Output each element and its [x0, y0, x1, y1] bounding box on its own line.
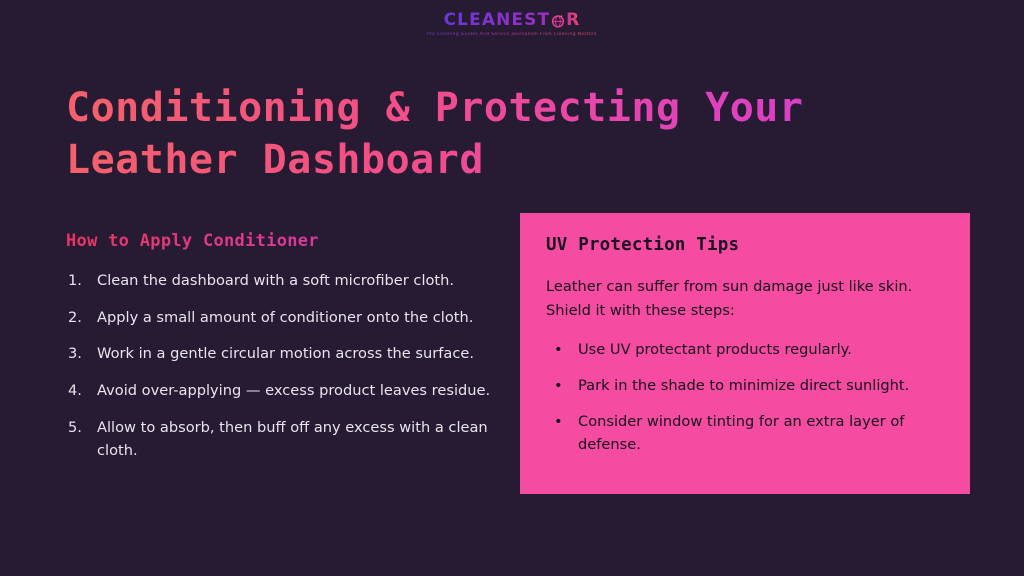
uv-bullets-list: Use UV protectant products regularly. Pa…	[546, 338, 944, 457]
list-item: Use UV protectant products regularly.	[546, 338, 944, 362]
list-item: Apply a small amount of conditioner onto…	[66, 306, 494, 330]
page-title: Conditioning & Protecting Your Leather D…	[66, 82, 946, 186]
slide-root: CLEANEST R Pro Cleaning Guides And Servi…	[0, 0, 1024, 576]
apply-conditioner-section: How to Apply Conditioner Clean the dashb…	[66, 231, 494, 476]
card-intro-text: Leather can suffer from sun damage just …	[546, 275, 944, 322]
list-item: Work in a gentle circular motion across …	[66, 342, 494, 366]
logo-text-last: R	[566, 12, 580, 29]
logo-text-first: CLEANEST	[444, 12, 551, 29]
uv-protection-card: UV Protection Tips Leather can suffer fr…	[520, 213, 970, 494]
globe-icon	[551, 14, 565, 28]
brand-logo: CLEANEST R Pro Cleaning Guides And Servi…	[0, 12, 1024, 37]
list-item: Clean the dashboard with a soft microfib…	[66, 269, 494, 293]
steps-list: Clean the dashboard with a soft microfib…	[66, 269, 494, 463]
list-item: Allow to absorb, then buff off any exces…	[66, 416, 494, 463]
list-item: Consider window tinting for an extra lay…	[546, 410, 944, 457]
logo-wordmark: CLEANEST R	[444, 12, 581, 29]
list-item: Avoid over-applying — excess product lea…	[66, 379, 494, 403]
card-title: UV Protection Tips	[546, 235, 944, 255]
section-heading: How to Apply Conditioner	[66, 231, 494, 251]
list-item: Park in the shade to minimize direct sun…	[546, 374, 944, 398]
logo-tagline: Pro Cleaning Guides And Service Journali…	[427, 32, 597, 37]
